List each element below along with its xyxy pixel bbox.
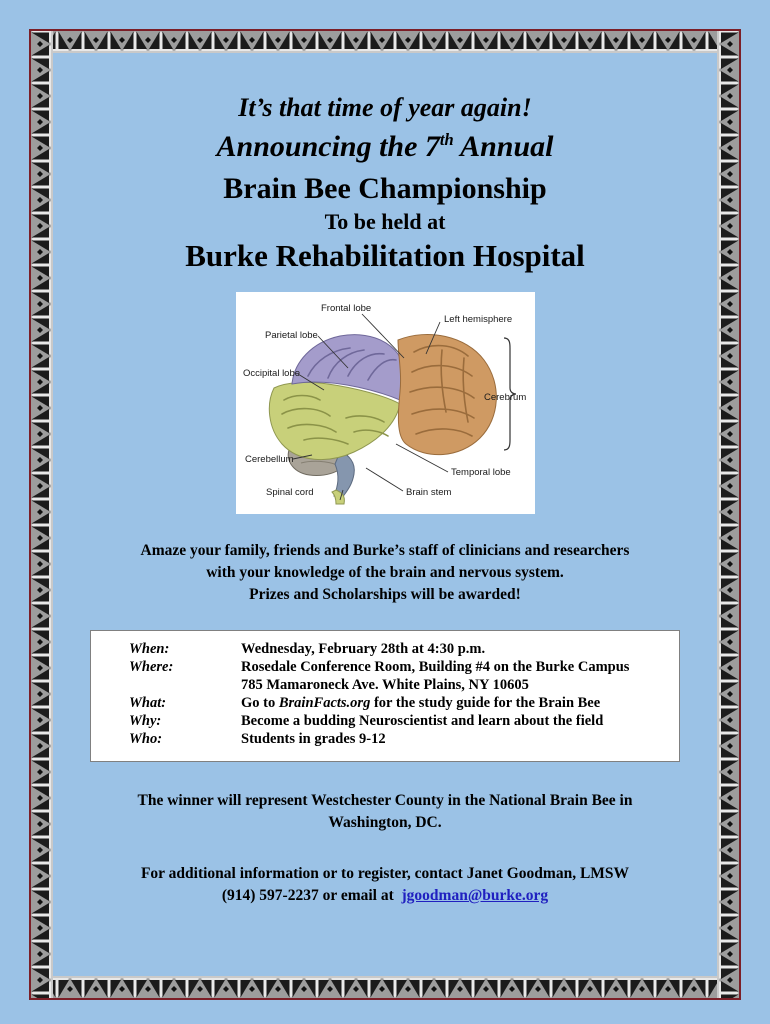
- figure-label-occipital-lobe: Occipital lobe: [243, 368, 300, 379]
- details-key-who: Who:: [129, 731, 241, 749]
- what-post: for the study guide for the Brain Bee: [370, 695, 600, 711]
- details-key-what: What:: [129, 695, 241, 713]
- announcing-line: Announcing the 7th Annual: [53, 130, 717, 164]
- contact-note-line-1: For additional information or to registe…: [53, 863, 717, 885]
- table-row: Why: Become a budding Neuroscientist and…: [129, 713, 629, 731]
- contact-note-line-2: (914) 597-2237 or email at jgoodman@burk…: [53, 885, 717, 907]
- table-row: 785 Mamaroneck Ave. White Plains, NY 106…: [129, 677, 629, 695]
- details-value-who: Students in grades 9-12: [241, 731, 629, 749]
- details-key-where: Where:: [129, 659, 241, 677]
- figure-label-spinal-cord: Spinal cord: [266, 487, 314, 498]
- details-value-why: Become a budding Neuroscientist and lear…: [241, 713, 629, 731]
- table-row: What: Go to BrainFacts.org for the study…: [129, 695, 629, 713]
- brain-anatomy-diagram: Frontal lobe Left hemisphere Parietal lo…: [236, 292, 535, 514]
- announcing-prefix: Announcing the 7: [217, 130, 440, 163]
- winner-note: The winner will represent Westchester Co…: [53, 790, 717, 835]
- figure-label-frontal-lobe: Frontal lobe: [321, 303, 371, 314]
- details-key-when: When:: [129, 641, 241, 659]
- flyer-content: It’s that time of year again! Announcing…: [53, 53, 717, 976]
- event-title: Brain Bee Championship: [53, 172, 717, 206]
- brainfacts-link[interactable]: BrainFacts.org: [279, 695, 370, 711]
- flyer-decorative-frame: It’s that time of year again! Announcing…: [29, 29, 741, 1000]
- what-pre: Go to: [241, 695, 279, 711]
- venue-name: Burke Rehabilitation Hospital: [53, 239, 717, 274]
- contact-note: For additional information or to registe…: [53, 863, 717, 908]
- email-link[interactable]: jgoodman@burke.org: [402, 887, 549, 904]
- pitch-line-2: with your knowledge of the brain and ner…: [53, 562, 717, 584]
- table-row: Where: Rosedale Conference Room, Buildin…: [129, 659, 629, 677]
- winner-note-line-1: The winner will represent Westchester Co…: [53, 790, 717, 812]
- details-table: When: Wednesday, February 28th at 4:30 p…: [129, 641, 629, 749]
- details-key-blank: [129, 677, 241, 695]
- tagline: It’s that time of year again!: [53, 93, 717, 122]
- figure-label-brain-stem: Brain stem: [406, 487, 451, 498]
- figure-label-left-hemisphere: Left hemisphere: [444, 314, 512, 325]
- details-key-why: Why:: [129, 713, 241, 731]
- pitch-line-1: Amaze your family, friends and Burke’s s…: [53, 540, 717, 562]
- pitch-paragraph: Amaze your family, friends and Burke’s s…: [53, 540, 717, 606]
- details-value-what: Go to BrainFacts.org for the study guide…: [241, 695, 629, 713]
- table-row: Who: Students in grades 9-12: [129, 731, 629, 749]
- figure-label-temporal-lobe: Temporal lobe: [451, 467, 511, 478]
- held-at-label: To be held at: [53, 210, 717, 235]
- announcing-ordinal: th: [440, 130, 454, 149]
- pitch-line-3: Prizes and Scholarships will be awarded!: [53, 584, 717, 606]
- details-value-where: Rosedale Conference Room, Building #4 on…: [241, 659, 629, 677]
- details-value-when: Wednesday, February 28th at 4:30 p.m.: [241, 641, 629, 659]
- table-row: When: Wednesday, February 28th at 4:30 p…: [129, 641, 629, 659]
- winner-note-line-2: Washington, DC.: [53, 812, 717, 834]
- announcing-suffix: Annual: [454, 130, 554, 163]
- figure-label-parietal-lobe: Parietal lobe: [265, 330, 318, 341]
- figure-label-cerebellum: Cerebellum: [245, 454, 294, 465]
- details-box: When: Wednesday, February 28th at 4:30 p…: [90, 630, 680, 762]
- brain-illustration: Frontal lobe Left hemisphere Parietal lo…: [236, 292, 535, 514]
- contact-phone: (914) 597-2237 or email at: [222, 887, 394, 904]
- details-value-address: 785 Mamaroneck Ave. White Plains, NY 106…: [241, 677, 629, 695]
- figure-label-cerebrum: Cerebrum: [484, 392, 526, 403]
